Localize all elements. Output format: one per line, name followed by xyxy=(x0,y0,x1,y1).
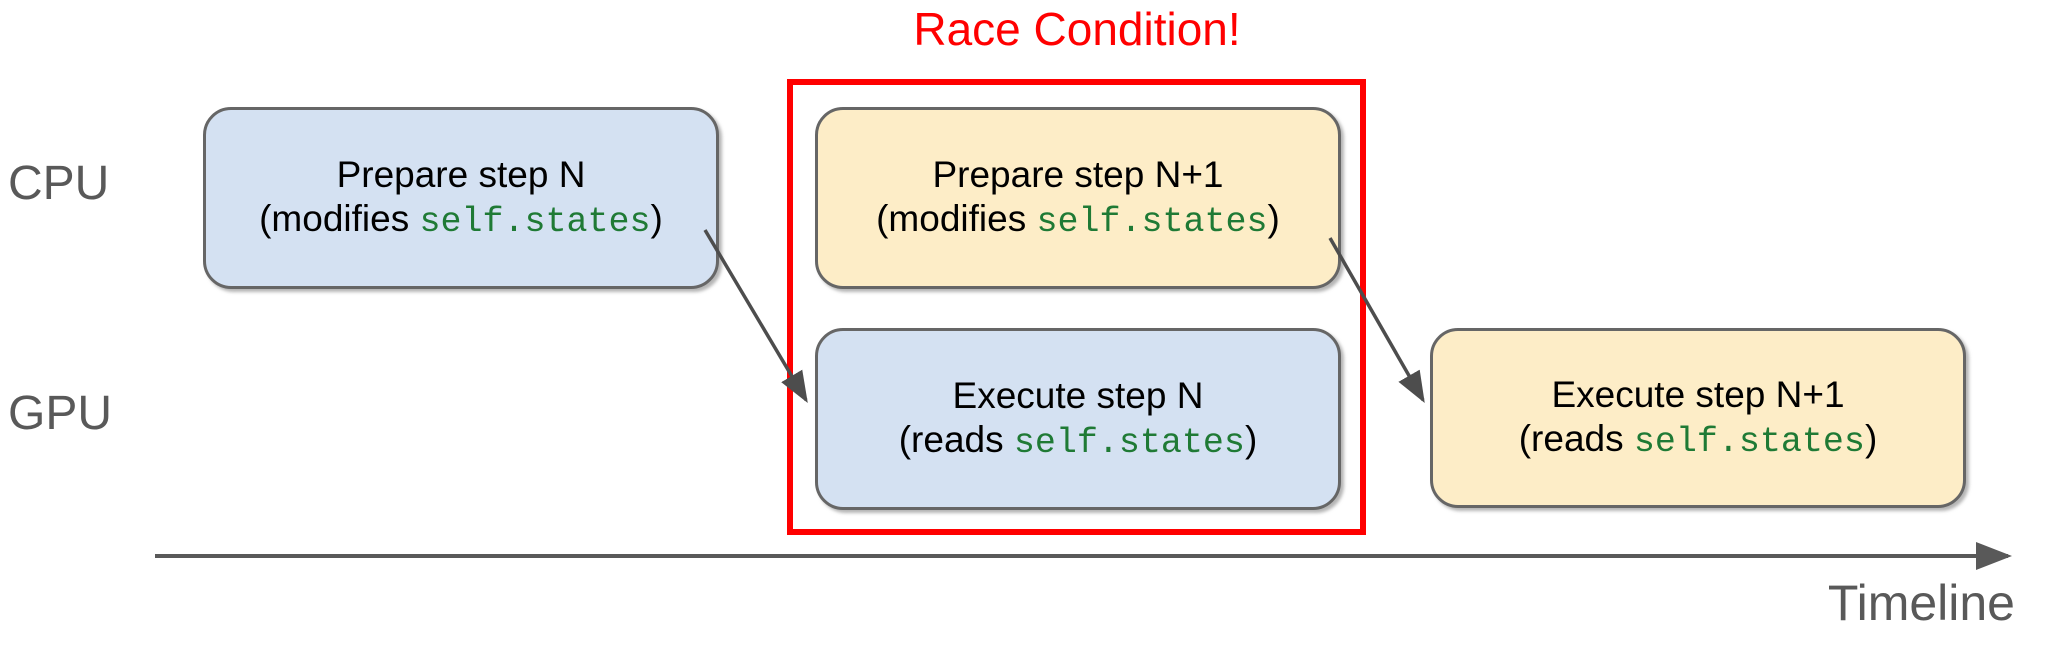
task-box-prepare-step-n-plus-1: Prepare step N+1 (modifies self.states) xyxy=(815,107,1341,289)
race-condition-title: Race Condition! xyxy=(787,6,1367,52)
task-box-subtitle-prefix: (reads xyxy=(899,419,1014,460)
lane-label-cpu: CPU xyxy=(8,160,109,208)
task-box-subtitle-prefix: (reads xyxy=(1519,418,1634,459)
code-token-self-states: self.states xyxy=(420,202,651,242)
task-box-title: Execute step N xyxy=(953,374,1204,418)
task-box-title: Prepare step N+1 xyxy=(932,153,1223,197)
code-token-self-states: self.states xyxy=(1037,202,1268,242)
task-box-subtitle: (reads self.states) xyxy=(1519,417,1878,463)
lane-label-gpu: GPU xyxy=(8,390,112,438)
diagram-canvas: CPU GPU Race Condition! Prepare step N (… xyxy=(0,0,2048,664)
task-box-prepare-step-n: Prepare step N (modifies self.states) xyxy=(203,107,719,289)
code-token-self-states: self.states xyxy=(1014,423,1245,463)
task-box-subtitle: (reads self.states) xyxy=(899,418,1258,464)
task-box-title: Prepare step N xyxy=(337,153,586,197)
task-box-subtitle-suffix: ) xyxy=(1245,419,1257,460)
task-box-subtitle-suffix: ) xyxy=(1268,198,1280,239)
task-box-subtitle: (modifies self.states) xyxy=(259,197,663,243)
task-box-subtitle-suffix: ) xyxy=(651,198,663,239)
task-box-title: Execute step N+1 xyxy=(1551,373,1844,417)
task-box-subtitle-suffix: ) xyxy=(1865,418,1877,459)
task-box-subtitle: (modifies self.states) xyxy=(876,197,1280,243)
task-box-execute-step-n: Execute step N (reads self.states) xyxy=(815,328,1341,510)
task-box-execute-step-n-plus-1: Execute step N+1 (reads self.states) xyxy=(1430,328,1966,508)
code-token-self-states: self.states xyxy=(1634,422,1865,462)
task-box-subtitle-prefix: (modifies xyxy=(876,198,1036,239)
task-box-subtitle-prefix: (modifies xyxy=(259,198,419,239)
timeline-axis-label: Timeline xyxy=(1700,578,2015,628)
